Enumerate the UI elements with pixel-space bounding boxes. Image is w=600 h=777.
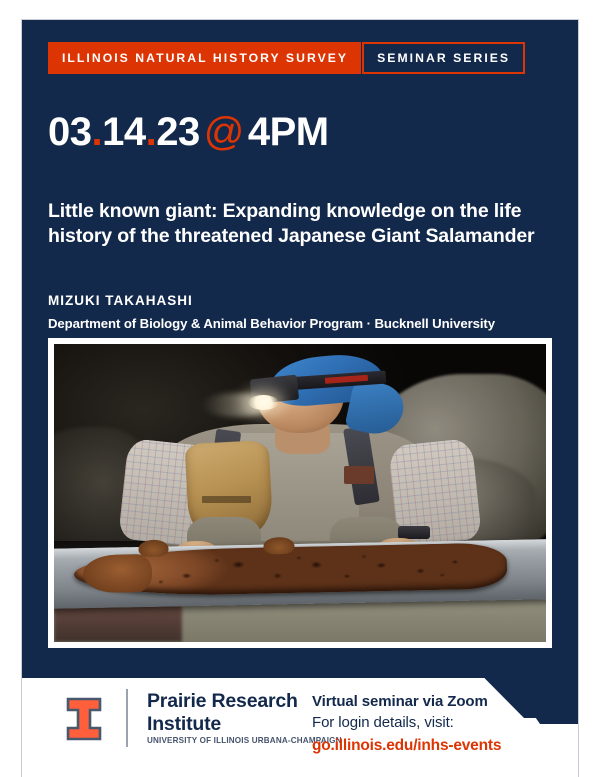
speaker-name: MIZUKI TAKAHASHI <box>48 294 193 308</box>
banner-seminar-series-label: SEMINAR SERIES <box>377 52 510 64</box>
photo-salamander-hindlimb <box>263 536 294 554</box>
photo-researcher-strap-buckle <box>344 466 374 484</box>
header-banner: ILLINOIS NATURAL HISTORY SURVEY SEMINAR … <box>48 42 525 74</box>
photo-japanese-giant-salamander <box>73 542 507 597</box>
zoom-instruction: For login details, visit: <box>312 712 501 733</box>
seminar-poster: ILLINOIS NATURAL HISTORY SURVEY SEMINAR … <box>22 20 578 777</box>
photo-salamander-head <box>82 553 152 593</box>
photo-researcher-bandana-tail <box>345 378 408 439</box>
poster-footer: Prairie Research Institute UNIVERSITY OF… <box>22 678 578 777</box>
photo-headlamp-beam <box>202 393 271 417</box>
event-date-day: 14 <box>102 110 146 154</box>
date-separator-2: . <box>146 110 157 154</box>
pri-name-line-1: Prairie Research <box>147 690 298 713</box>
zoom-info-block: Virtual seminar via Zoom For login detai… <box>312 692 501 757</box>
zoom-events-url[interactable]: go.illinois.edu/inhs-events <box>312 735 501 757</box>
event-date-year: 23 <box>156 110 200 154</box>
event-date-month: 03 <box>48 110 92 154</box>
speaker-affiliation: Department of Biology & Animal Behavior … <box>48 316 495 333</box>
photo-pouch-label <box>202 496 251 503</box>
seminar-photo <box>54 344 546 642</box>
at-symbol-icon: @ <box>200 110 248 154</box>
talk-title: Little known giant: Expanding knowledge … <box>48 199 554 250</box>
prairie-research-institute-name: Prairie Research Institute <box>147 690 298 736</box>
date-separator-1: . <box>92 110 103 154</box>
footer-divider <box>126 689 128 747</box>
event-datetime: 03.14.23@4PM <box>48 112 329 152</box>
event-time: 4PM <box>248 110 329 154</box>
photo-salamander-forelimb <box>138 539 169 557</box>
pri-name-line-2: Institute <box>147 713 298 736</box>
banner-survey-label: ILLINOIS NATURAL HISTORY SURVEY <box>62 52 348 64</box>
banner-seminar-series-block: SEMINAR SERIES <box>362 42 525 74</box>
seminar-photo-frame <box>48 338 552 648</box>
zoom-heading: Virtual seminar via Zoom <box>312 692 501 712</box>
banner-survey-label-block: ILLINOIS NATURAL HISTORY SURVEY <box>48 42 361 74</box>
illinois-block-i-logo <box>64 696 104 742</box>
